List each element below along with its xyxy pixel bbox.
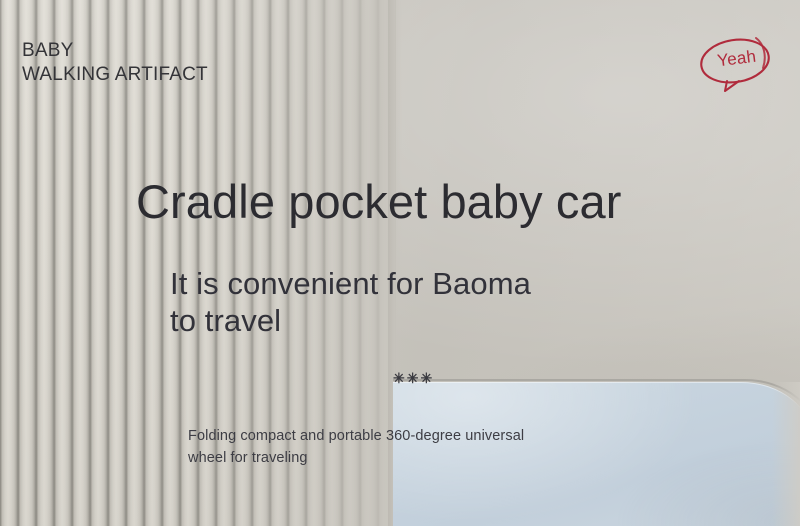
yeah-badge-label: Yeah [691, 25, 784, 97]
product-poster: BABY WALKING ARTIFACT Cradle pocket baby… [0, 0, 800, 526]
body-description-text: Folding compact and portable 360-degree … [188, 425, 618, 469]
page-title: Cradle pocket baby car [136, 174, 622, 230]
subheading-text: It is convenient for Baoma to travel [170, 265, 531, 339]
yeah-badge: Yeah [694, 30, 780, 92]
eyebrow-text: BABY WALKING ARTIFACT [22, 39, 208, 87]
asterisk-divider-icon: ✳✳✳ [393, 370, 434, 387]
text-layer: BABY WALKING ARTIFACT Cradle pocket baby… [0, 0, 800, 526]
